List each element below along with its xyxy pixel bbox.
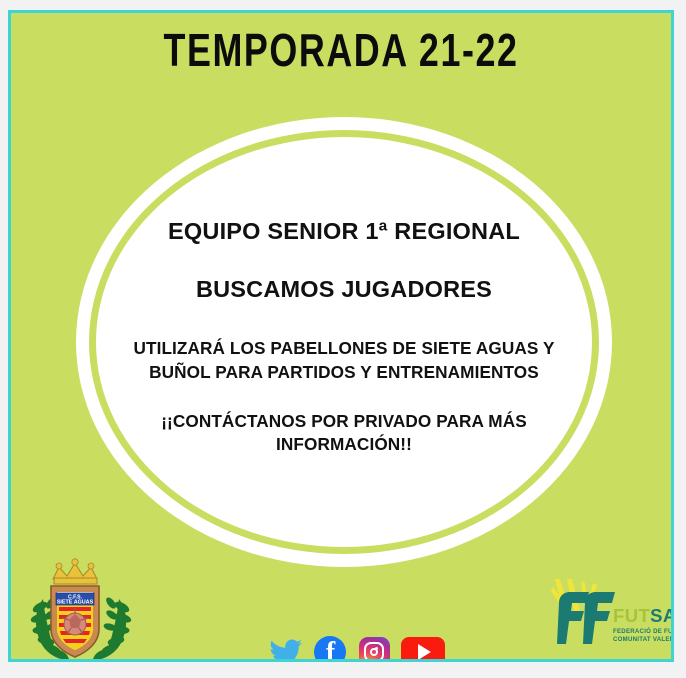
- youtube-icon-wrapper[interactable]: [401, 635, 445, 662]
- facebook-icon[interactable]: f: [314, 636, 346, 662]
- team-category-line: EQUIPO SENIOR 1ª REGIONAL: [107, 218, 581, 245]
- instagram-camera-glyph: [364, 642, 384, 662]
- federation-logo: FUTSAL FEDERACIÓ DE FUTBOL COMUNITAT VAL…: [547, 579, 674, 662]
- venues-paragraph: UTILIZARÁ LOS PABELLONES DE SIETE AGUAS …: [107, 337, 581, 384]
- instagram-dot: [375, 647, 378, 650]
- facebook-icon-wrapper[interactable]: f: [313, 635, 347, 662]
- instagram-icon-wrapper[interactable]: [357, 635, 391, 662]
- play-triangle-icon: [418, 644, 431, 660]
- contact-line-1: ¡¡CONTÁCTANOS POR PRIVADO PARA MÁS: [107, 410, 581, 434]
- venues-line-1: UTILIZARÁ LOS PABELLONES DE SIETE AGUAS …: [107, 337, 581, 361]
- facebook-f-glyph: f: [314, 636, 346, 662]
- federation-subtitle-1: FEDERACIÓ DE FUTBOL: [613, 628, 674, 636]
- federation-wordmark: FUTSAL FEDERACIÓ DE FUTBOL COMUNITAT VAL…: [613, 607, 674, 643]
- twitter-icon[interactable]: [269, 635, 303, 662]
- contact-line-2: INFORMACIÓN!!: [107, 433, 581, 457]
- recruiting-headline: BUSCAMOS JUGADORES: [107, 276, 581, 303]
- poster-frame: TEMPORADA 21-22 EQUIPO SENIOR 1ª REGIONA…: [8, 10, 674, 662]
- contact-paragraph: ¡¡CONTÁCTANOS POR PRIVADO PARA MÁS INFOR…: [107, 410, 581, 457]
- federation-subtitle-2: COMUNITAT VALENCIANA: [613, 636, 674, 644]
- futsal-fut: FUT: [613, 605, 650, 626]
- crest-line-2: SIETE AGUAS: [57, 600, 94, 606]
- club-crest-logo: C.F.S. SIETE AGUAS: [29, 555, 133, 662]
- venues-line-2: BUÑOL PARA PARTIDOS Y ENTRENAMIENTOS: [107, 361, 581, 385]
- page-title: TEMPORADA 21-22: [84, 27, 599, 73]
- futsal-sal: SAL: [650, 605, 674, 626]
- youtube-icon[interactable]: [401, 637, 445, 663]
- social-links-row[interactable]: f: [269, 635, 445, 662]
- announcement-text-block: EQUIPO SENIOR 1ª REGIONAL BUSCAMOS JUGAD…: [107, 218, 581, 457]
- instagram-icon[interactable]: [359, 637, 390, 663]
- federation-futsal-word: FUTSAL: [613, 607, 674, 626]
- poster-canvas: TEMPORADA 21-22 EQUIPO SENIOR 1ª REGIONA…: [0, 0, 686, 678]
